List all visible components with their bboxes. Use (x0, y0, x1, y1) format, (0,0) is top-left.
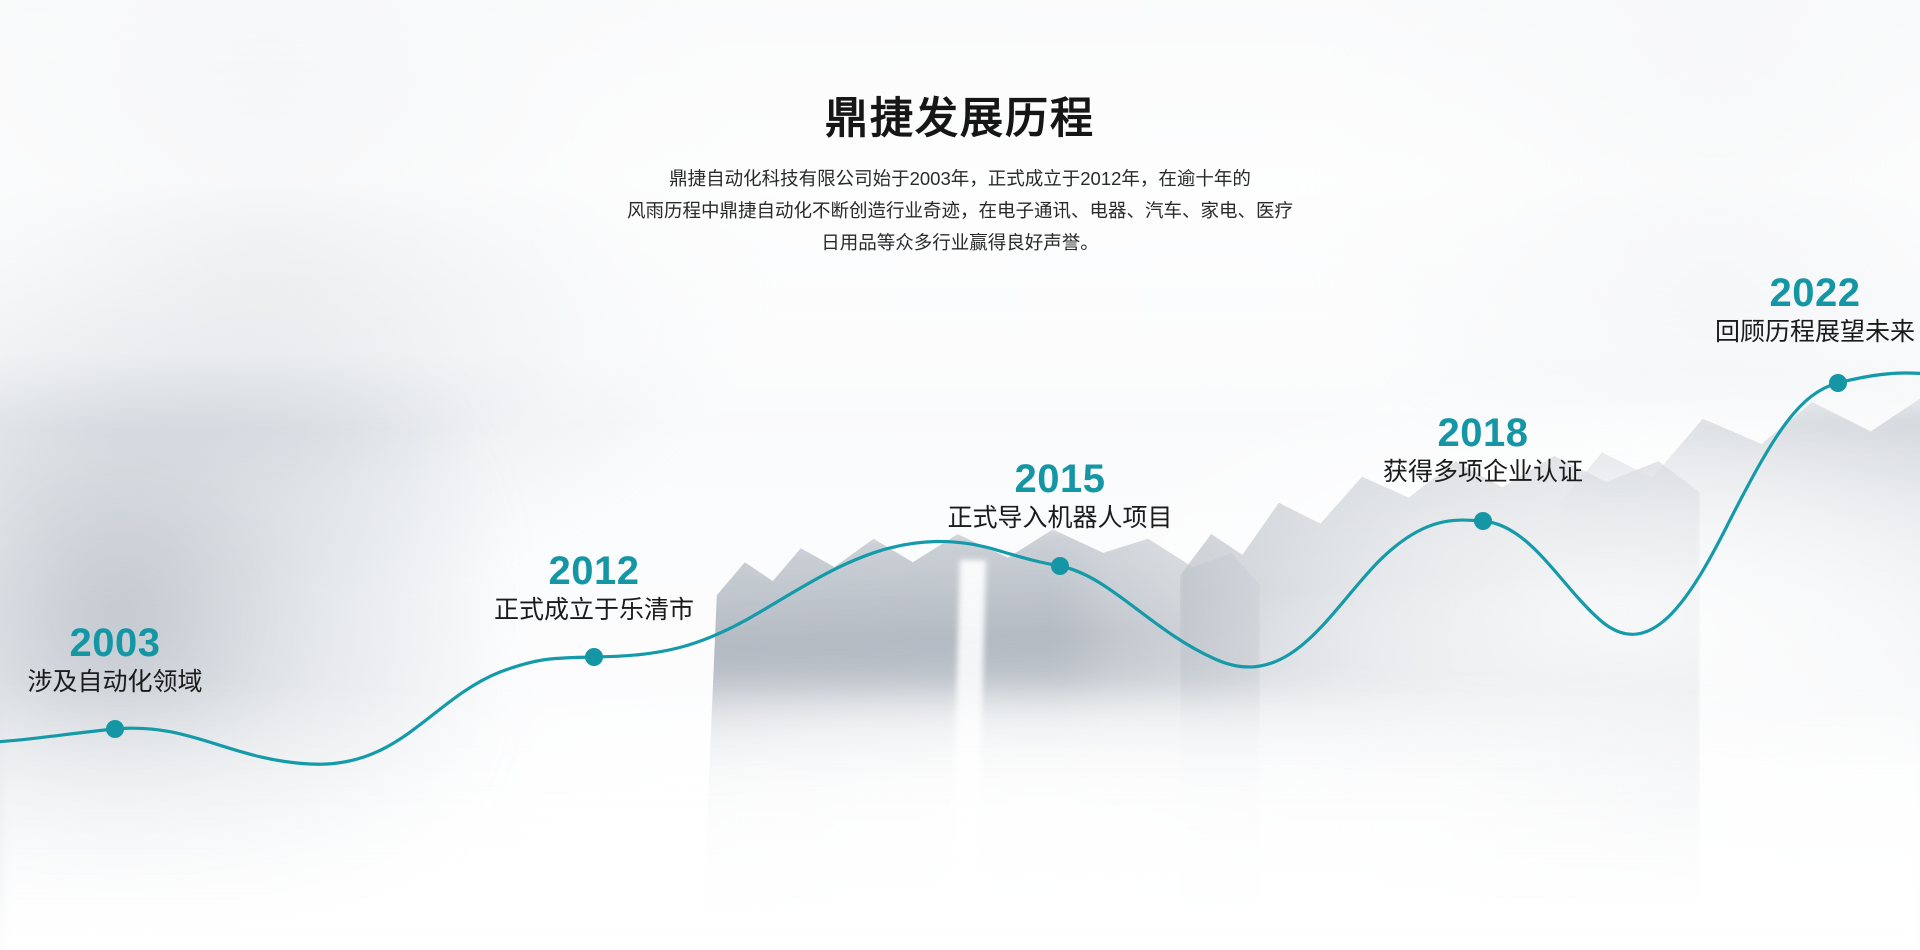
milestone-desc-2012: 正式成立于乐清市 (494, 595, 694, 625)
milestone-2012[interactable]: 2012正式成立于乐清市 (494, 550, 694, 625)
timeline-curve (0, 373, 1920, 764)
timeline-node-group (106, 374, 1847, 738)
milestone-2018[interactable]: 2018获得多项企业认证 (1383, 412, 1583, 487)
subtitle-line-3: 日用品等众多行业赢得良好声誉。 (550, 227, 1370, 259)
milestone-desc-2018: 获得多项企业认证 (1383, 457, 1583, 487)
milestone-desc-2015: 正式导入机器人项目 (947, 503, 1172, 533)
subtitle-line-2: 风雨历程中鼎捷自动化不断创造行业奇迹，在电子通讯、电器、汽车、家电、医疗 (550, 195, 1370, 227)
timeline-node-2022[interactable] (1829, 374, 1847, 392)
milestone-year-2022: 2022 (1715, 272, 1915, 315)
timeline-node-2018[interactable] (1474, 512, 1492, 530)
timeline-node-2003[interactable] (106, 720, 124, 738)
timeline-node-2015[interactable] (1051, 557, 1069, 575)
page-title: 鼎捷发展历程 (0, 96, 1920, 143)
timeline-node-2012[interactable] (585, 648, 603, 666)
subtitle-line-1: 鼎捷自动化科技有限公司始于2003年，正式成立于2012年，在逾十年的 (550, 163, 1370, 195)
milestone-desc-2022: 回顾历程展望未来 (1715, 317, 1915, 347)
timeline-infographic: 鼎捷发展历程 鼎捷自动化科技有限公司始于2003年，正式成立于2012年，在逾十… (0, 0, 1920, 950)
header: 鼎捷发展历程 鼎捷自动化科技有限公司始于2003年，正式成立于2012年，在逾十… (0, 96, 1920, 259)
milestone-desc-2003: 涉及自动化领域 (27, 667, 202, 697)
milestone-2003[interactable]: 2003涉及自动化领域 (27, 622, 202, 697)
milestone-year-2003: 2003 (27, 622, 202, 665)
milestone-year-2018: 2018 (1383, 412, 1583, 455)
milestone-year-2015: 2015 (947, 458, 1172, 501)
milestone-2022[interactable]: 2022回顾历程展望未来 (1715, 272, 1915, 347)
milestone-2015[interactable]: 2015正式导入机器人项目 (947, 458, 1172, 533)
milestone-year-2012: 2012 (494, 550, 694, 593)
page-subtitle: 鼎捷自动化科技有限公司始于2003年，正式成立于2012年，在逾十年的 风雨历程… (550, 163, 1370, 258)
